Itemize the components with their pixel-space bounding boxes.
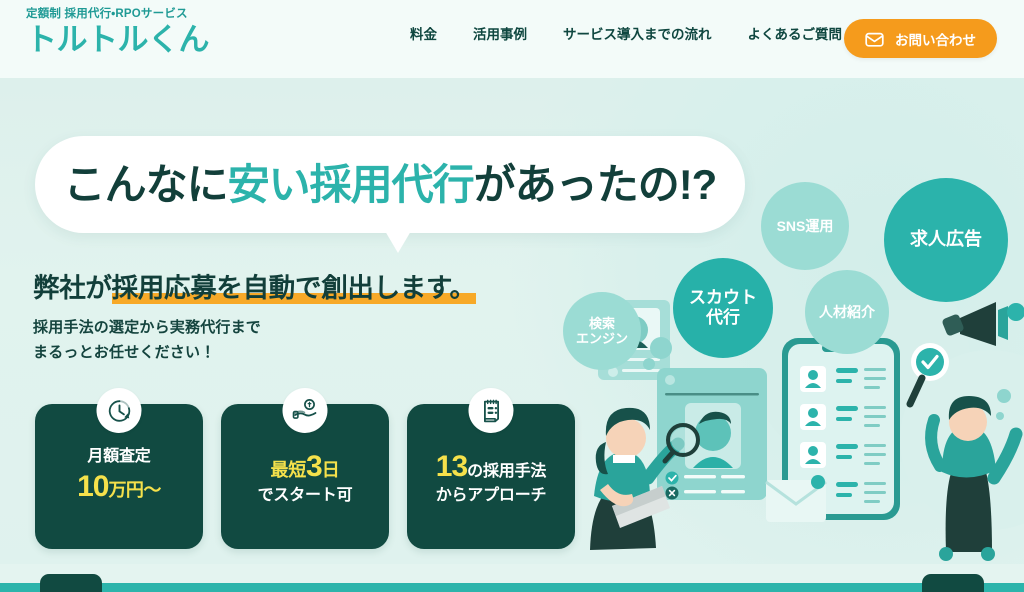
keyword-bubble-job-ads: 求人広告 xyxy=(884,178,1008,302)
clock-arrow-icon xyxy=(97,388,142,433)
keyword-bubble-search-line1: 検索 xyxy=(589,316,615,331)
bubble-text-part1: こんなに xyxy=(64,161,228,208)
main-navigation: 料金 活用事例 サービス導入までの流れ よくあるご質問 xyxy=(410,28,842,42)
feature-card-methods-line1: 13の採用手法 xyxy=(436,447,546,486)
feature-card-fast-start-suffix: 日 xyxy=(322,460,340,480)
keyword-bubble-search-engine: 検索 エンジン xyxy=(563,292,641,370)
feature-card-methods[interactable]: 13の採用手法 からアプローチ xyxy=(407,404,575,549)
envelope-icon xyxy=(865,31,884,47)
keyword-bubble-scout-label: スカウト 代行 xyxy=(689,288,757,328)
keyword-bubble-sns-label: SNS運用 xyxy=(777,218,834,235)
keyword-bubble-search-line2: エンジン xyxy=(576,331,628,346)
hero-subcopy-line2: まるっとお任せください！ xyxy=(33,341,261,366)
feature-card-monthly-fee[interactable]: 月額査定 10万円〜 xyxy=(35,404,203,549)
page-root: 定額制 採用代行・RPOサービス トルトルくん 料金 活用事例 サービス導入まで… xyxy=(0,0,1024,592)
hand-coin-icon xyxy=(283,388,328,433)
feature-card-fast-start-number: 3 xyxy=(306,450,322,483)
contact-cta-button[interactable]: お問い合わせ xyxy=(844,19,997,58)
feature-card-monthly-fee-line2: 10万円〜 xyxy=(77,467,161,506)
hero-speech-bubble: こんなに安い採用代行があったの!? xyxy=(35,136,745,233)
feature-cards: 月額査定 10万円〜 最短3日 でスタート可 xyxy=(35,404,575,549)
feature-card-monthly-fee-line1: 月額査定 xyxy=(87,447,150,468)
feature-card-fast-start-line1: 最短3日 xyxy=(270,447,339,486)
nav-item-pricing[interactable]: 料金 xyxy=(410,28,437,42)
feature-card-monthly-fee-number: 10 xyxy=(77,470,108,503)
keyword-bubble-job-ads-label: 求人広告 xyxy=(910,229,982,250)
bottom-tab-right[interactable] xyxy=(922,574,984,592)
feature-card-fast-start[interactable]: 最短3日 でスタート可 xyxy=(221,404,389,549)
nav-item-faq[interactable]: よくあるご質問 xyxy=(748,28,843,42)
feature-card-monthly-fee-suffix: 万円〜 xyxy=(108,480,161,500)
feature-card-methods-line2: からアプローチ xyxy=(436,486,547,507)
keyword-bubble-sns: SNS運用 xyxy=(761,182,849,270)
hero-headline-text: 弊社が採用応募を自動で創出します。 xyxy=(33,272,476,305)
feature-card-fast-start-line2: でスタート可 xyxy=(258,486,353,507)
speech-bubble-tail xyxy=(385,231,411,253)
site-header: 定額制 採用代行・RPOサービス トルトルくん 料金 活用事例 サービス導入まで… xyxy=(0,0,1024,78)
bottom-accent-bar xyxy=(0,583,1024,592)
hero-headline: 弊社が採用応募を自動で創出します。 xyxy=(33,272,476,305)
feature-card-methods-number: 13 xyxy=(436,450,467,483)
nav-item-case-studies[interactable]: 活用事例 xyxy=(473,28,527,42)
keyword-bubble-search-engine-label: 検索 エンジン xyxy=(576,316,628,347)
contact-cta-label: お問い合わせ xyxy=(895,29,976,49)
site-logo[interactable]: 定額制 採用代行・RPOサービス トルトルくん xyxy=(26,9,236,56)
bubble-text-part3: があったの!? xyxy=(474,161,717,208)
headline-prefix: 弊社が xyxy=(33,273,112,303)
feature-card-fast-start-prefix: 最短 xyxy=(270,460,306,480)
headline-marked: 採用応募を自動で創出します。 xyxy=(112,273,476,304)
keyword-bubble-agency-label: 人材紹介 xyxy=(819,304,875,321)
hero-subcopy-line1: 採用手法の選定から実務代行まで xyxy=(33,316,261,341)
hero-speech-bubble-text: こんなに安い採用代行があったの!? xyxy=(64,164,717,206)
hero-subcopy: 採用手法の選定から実務代行まで まるっとお任せください！ xyxy=(33,316,261,366)
logo-name: トルトルくん xyxy=(26,24,236,57)
bubble-text-highlight: 安い採用代行 xyxy=(228,161,474,208)
bottom-tab-left[interactable] xyxy=(40,574,102,592)
feature-card-methods-suffix: の採用手法 xyxy=(467,463,546,480)
keyword-bubble-scout-line1: スカウト xyxy=(689,288,757,307)
logo-tagline: 定額制 採用代行・RPOサービス xyxy=(26,9,236,21)
keyword-bubble-scout: スカウト 代行 xyxy=(673,258,773,358)
document-checklist-icon xyxy=(469,388,514,433)
keyword-bubble-agency: 人材紹介 xyxy=(805,270,889,354)
keyword-bubble-scout-line2: 代行 xyxy=(706,308,740,327)
nav-item-service-flow[interactable]: サービス導入までの流れ xyxy=(563,28,712,42)
